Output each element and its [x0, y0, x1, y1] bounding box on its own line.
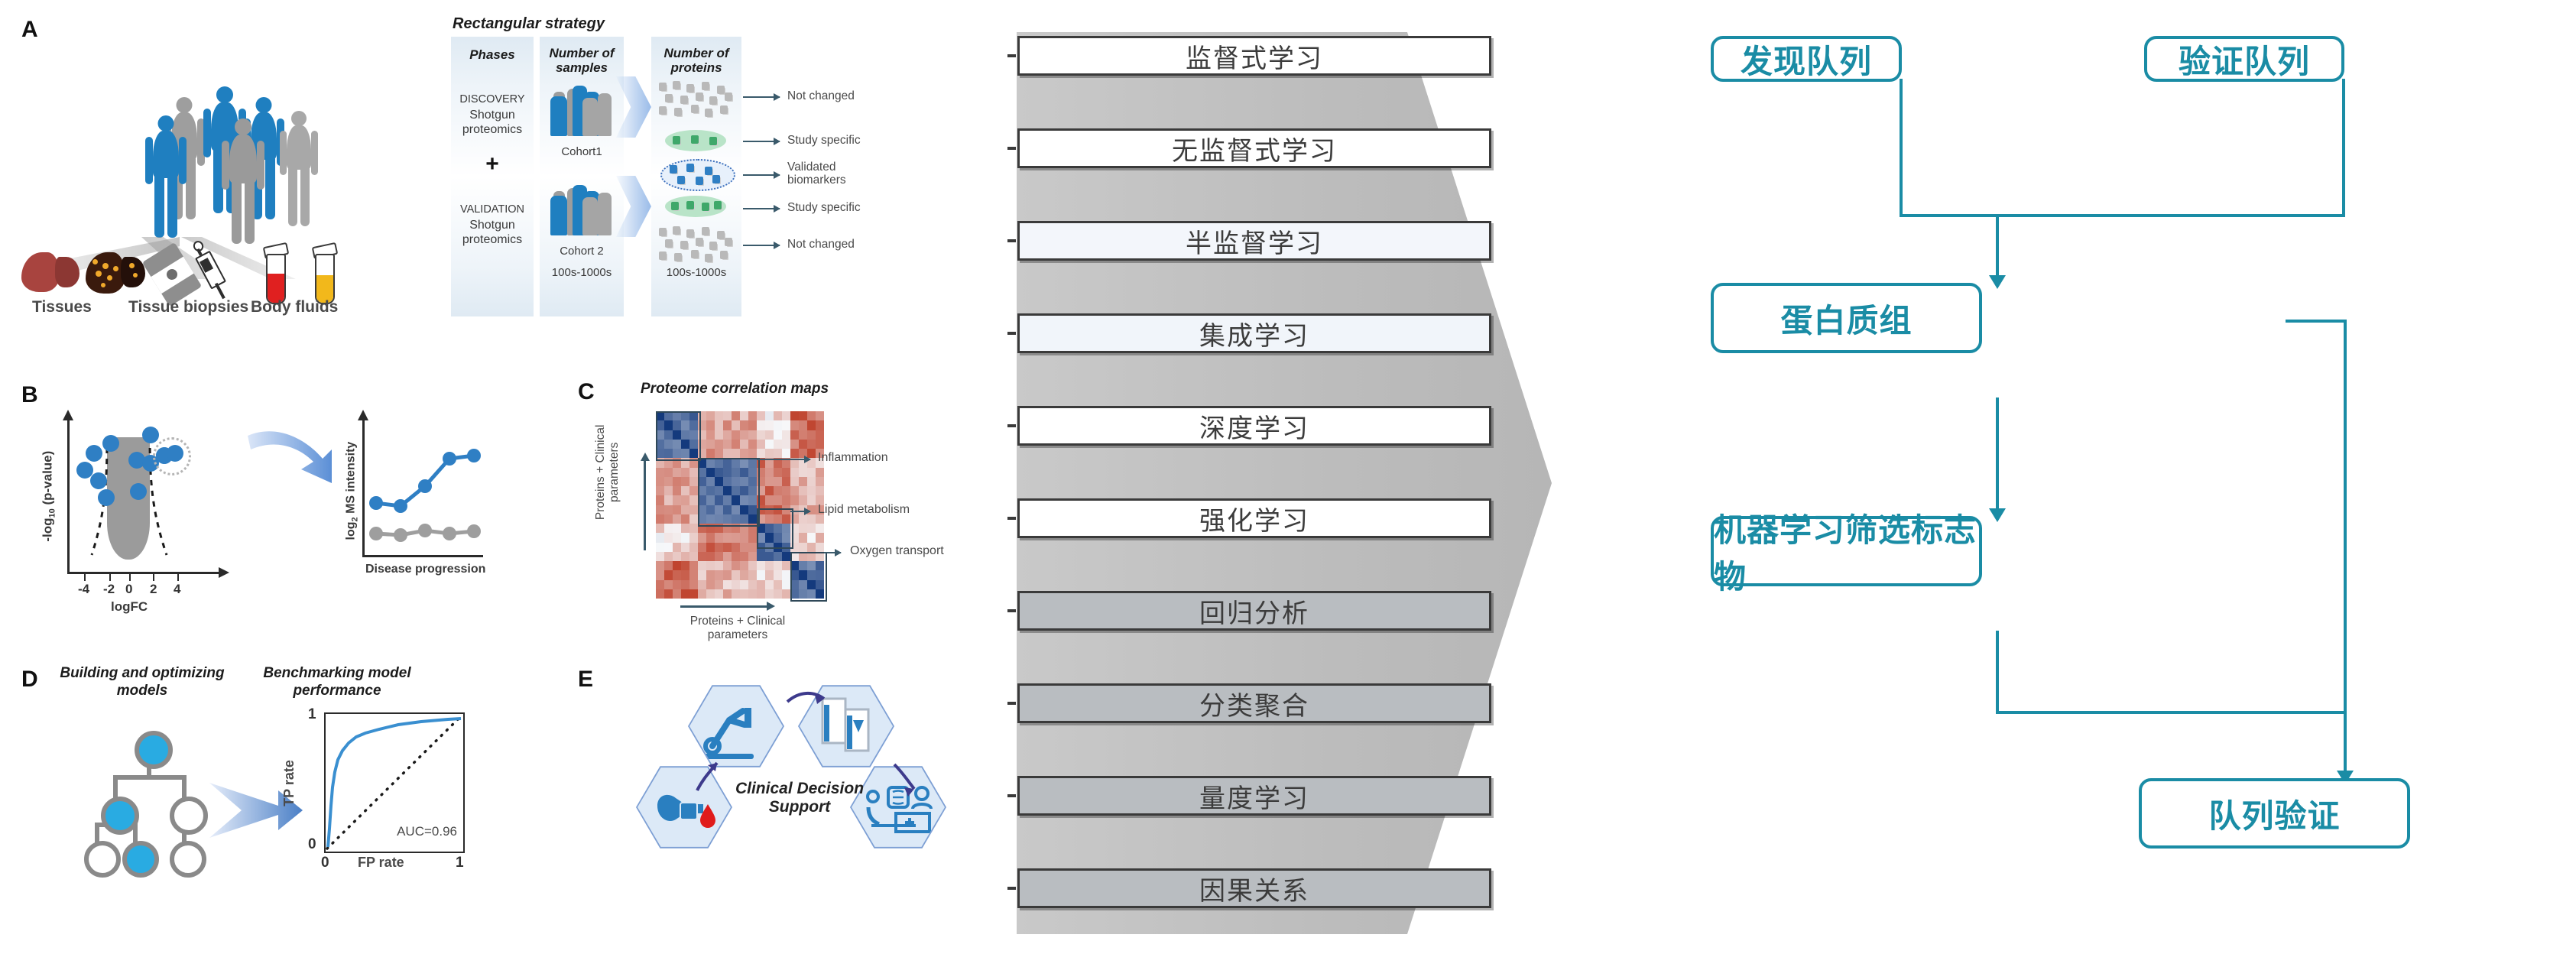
- rect-col-phases: Phases DISCOVERY Shotgun proteomics + VA…: [451, 37, 534, 316]
- outcome-arrow-3: [743, 174, 780, 176]
- cluster-box-inflammation: [698, 458, 760, 527]
- cds-label: Clinical Decision Support: [715, 780, 884, 816]
- volcano-to-trend-arrow: [243, 419, 350, 503]
- ml-tick-9: [1007, 794, 1016, 797]
- roc-ytick-bottom: 0: [308, 836, 316, 853]
- ml-method-label-2: 无监督式学习: [1172, 130, 1337, 167]
- outcome-arrow-4: [743, 208, 780, 209]
- panel-a-label-bodyfluids: Body fluids: [251, 298, 338, 316]
- fc-node-discovery-cohort[interactable]: 发现队列: [1711, 36, 1902, 82]
- fc-line-to-proteome: [1996, 214, 1999, 283]
- validation-title: VALIDATION: [451, 203, 534, 216]
- discovery-sub2: proteomics: [451, 123, 534, 138]
- fc-node-ml-biomarker-selection[interactable]: 机器学习筛选标志物: [1711, 516, 1982, 586]
- ml-tick-3: [1007, 239, 1016, 242]
- panel-c-xlabel-line1: Proteins + Clinical: [650, 615, 826, 628]
- cluster-box-1: [656, 411, 701, 461]
- samples-scale: 100s-1000s: [540, 266, 624, 279]
- protein-cluster-study-specific-1: [665, 130, 726, 151]
- rect-col-samples-head-line1: Number of: [540, 46, 624, 60]
- panel-c-ylabel-line2: parameters: [608, 400, 621, 545]
- fc-label-proteome: 蛋白质组: [1780, 295, 1912, 342]
- rect-col-proteins-head: Number of proteins: [651, 46, 741, 75]
- outcome-arrow-2: [743, 141, 780, 142]
- outcome-label-studyspecific-1: Study specific: [787, 134, 861, 147]
- outcome-label-validated-line2: biomarkers: [787, 174, 846, 187]
- outcome-label-studyspecific-2: Study specific: [787, 201, 861, 214]
- cds-label-line1: Clinical Decision: [715, 780, 884, 798]
- panel-c-label-oxygen: Oxygen transport: [850, 544, 944, 558]
- tree-node-right: [170, 797, 208, 835]
- protein-cluster-notchanged-bottom: [657, 226, 737, 263]
- ml-method-box-3[interactable]: 半监督学习: [1017, 221, 1491, 261]
- panel-c-label-inflammation: Inflammation: [818, 451, 888, 465]
- panel-d-roc-title-line2: performance: [242, 683, 433, 700]
- ml-method-box-7[interactable]: 回归分析: [1017, 591, 1491, 631]
- ml-method-label-6: 强化学习: [1199, 500, 1309, 537]
- rect-col-phases-head: Phases: [451, 47, 534, 62]
- trend-ylabel-sub: 2: [351, 517, 360, 521]
- rect-col-samples-head-line2: samples: [540, 60, 624, 75]
- ml-method-label-8: 分类聚合: [1199, 685, 1309, 722]
- rect-col-proteins-head-line1: Number of: [651, 46, 741, 60]
- volcano-plot: -4 -2 0 2 4 logFC -log10 (p-value): [46, 413, 275, 604]
- volcano-xlabel: logFC: [111, 599, 148, 615]
- cohort2-label: Cohort 2: [540, 245, 624, 258]
- fc-line-validation-down: [2342, 79, 2345, 216]
- cds-cycle-arrows: [627, 673, 963, 856]
- panel-letter-a: A: [21, 17, 38, 43]
- fc-label-ml-biomarker-selection: 机器学习筛选标志物: [1714, 505, 1979, 598]
- panel-c-ylabel-line1: Proteins + Clinical: [594, 400, 608, 545]
- outcome-label-notchanged-1: Not changed: [787, 89, 855, 102]
- discovery-sub1: Shotgun: [451, 109, 534, 123]
- cohort1-people: [549, 84, 616, 141]
- rect-col-samples-head: Number of samples: [540, 46, 624, 75]
- roc-ytick-top: 1: [308, 706, 316, 723]
- volcano-xtick-2: 2: [150, 582, 157, 597]
- panel-c-arrow-inflammation: [757, 459, 810, 460]
- rect-col-proteins: Number of proteins: [651, 37, 741, 316]
- panel-d-roc-title: Benchmarking model performance: [242, 665, 433, 700]
- urine-tube-icon: [312, 245, 335, 303]
- volcano-xtick--4: -4: [78, 582, 89, 597]
- ml-method-label-9: 量度学习: [1199, 777, 1309, 815]
- cluster-box-oxygen: [790, 552, 827, 602]
- roc-auc-label: AUC=0.96: [397, 824, 457, 839]
- person-gray: [280, 111, 318, 233]
- fc-line-discovery-down: [1900, 79, 1903, 216]
- roc-xtick-right: 1: [456, 855, 464, 871]
- panel-c-xlabel-line2: parameters: [650, 628, 826, 642]
- rect-col-samples: Number of samples Cohort1 Cohort 2 100s-…: [540, 37, 624, 316]
- panel-c-xlabel: Proteins + Clinical parameters: [650, 615, 826, 642]
- panel-d-title-line2: models: [50, 683, 234, 700]
- ml-method-box-10[interactable]: 因果关系: [1017, 868, 1491, 908]
- ml-tick-10: [1007, 887, 1016, 890]
- ml-method-box-9[interactable]: 量度学习: [1017, 776, 1491, 816]
- fc-arrowhead-proteome: [1989, 275, 2006, 289]
- panel-letter-c: C: [578, 379, 595, 405]
- ml-method-box-2[interactable]: 无监督式学习: [1017, 128, 1491, 168]
- roc-xlabel: FP rate: [358, 855, 404, 871]
- panel-c-label-lipid: Lipid metabolism: [818, 503, 910, 517]
- ml-tick-1: [1007, 54, 1016, 57]
- fc-line-proteome-to-ml: [1996, 398, 1999, 516]
- cds-label-line2: Support: [715, 798, 884, 816]
- panel-c-title: Proteome correlation maps: [641, 381, 829, 398]
- roc-plot: AUC=0.96: [324, 712, 465, 853]
- panel-letter-e: E: [578, 667, 593, 693]
- cohort2-people: [549, 183, 616, 241]
- rect-strategy-title: Rectangular strategy: [453, 15, 605, 33]
- tree-node-left: [101, 797, 139, 835]
- tree-leaf-3: [170, 841, 206, 878]
- fc-node-proteome[interactable]: 蛋白质组: [1711, 283, 1982, 353]
- trend-ylabel: log2 MS intensity: [344, 442, 359, 540]
- protein-cluster-study-specific-2: [665, 196, 726, 217]
- ml-method-box-5[interactable]: 深度学习: [1017, 406, 1491, 446]
- trend-ylabel-main: log: [344, 522, 357, 540]
- ml-tick-2: [1007, 147, 1016, 150]
- ml-method-label-1: 监督式学习: [1186, 37, 1323, 75]
- volcano-ylabel-main: -log: [40, 518, 54, 542]
- panel-c-arrow-lipid: [790, 511, 810, 512]
- liver-red-icon: [21, 252, 79, 292]
- outcome-label-validated-line1: Validated: [787, 161, 846, 174]
- fc-line-ml-down: [1996, 631, 1999, 713]
- ml-tick-5: [1007, 424, 1016, 427]
- roc-xtick-left: 0: [321, 855, 329, 871]
- phases-plus: +: [451, 151, 534, 177]
- volcano-ylabel: -log10 (p-value): [40, 451, 57, 542]
- outcome-label-validated: Validated biomarkers: [787, 161, 846, 187]
- panel-c-yaxis-arrowhead: [641, 453, 650, 461]
- ml-method-box-6[interactable]: 强化学习: [1017, 498, 1491, 538]
- blood-tube-icon: [263, 245, 286, 303]
- panel-c-ylabel: Proteins + Clinical parameters: [594, 400, 621, 545]
- volcano-xtick-4: 4: [174, 582, 180, 597]
- fc-line-proteome-branch-v: [2344, 320, 2347, 778]
- validation-sub1: Shotgun: [451, 219, 534, 233]
- fc-label-cohort-validation: 队列验证: [2208, 790, 2340, 837]
- liver-steatosis-icon: [86, 252, 145, 294]
- discovery-title: DISCOVERY: [451, 93, 534, 106]
- fc-label-discovery-cohort: 发现队列: [1741, 36, 1872, 83]
- volcano-ylabel-sub: 10: [48, 508, 57, 518]
- ml-tick-4: [1007, 332, 1016, 335]
- cohort1-label: Cohort1: [540, 145, 624, 158]
- ml-tick-7: [1007, 609, 1016, 612]
- outcome-arrow-1: [743, 96, 780, 98]
- trend-ylabel-tail: MS intensity: [344, 442, 357, 518]
- highlighted-protein-circle: [153, 437, 191, 475]
- tree-leaf-2: [122, 841, 159, 878]
- panel-c-arrow-oxygen: [824, 552, 841, 553]
- ml-method-box-1[interactable]: 监督式学习: [1017, 36, 1491, 76]
- panel-c-yaxis-arrow: [644, 459, 646, 550]
- panel-letter-b: B: [21, 382, 38, 408]
- tree-node-root: [135, 731, 173, 769]
- figure-canvas: A: [0, 0, 2576, 967]
- fc-node-cohort-validation[interactable]: 队列验证: [2139, 778, 2410, 849]
- protein-cluster-notchanged-top: [657, 81, 737, 118]
- protein-cluster-validated-biomarkers: [660, 159, 735, 191]
- fc-line-proteome-branch-h: [2286, 320, 2347, 323]
- ml-method-label-5: 深度学习: [1199, 407, 1309, 445]
- ml-tick-8: [1007, 702, 1016, 705]
- protein-trend-plot: Disease progression log2 MS intensity: [346, 413, 491, 604]
- fc-node-validation-cohort[interactable]: 验证队列: [2144, 36, 2344, 82]
- panel-a-label-biopsies: Tissue biopsies: [128, 298, 248, 316]
- trend-xlabel: Disease progression: [365, 563, 485, 576]
- proteins-scale: 100s-1000s: [651, 266, 741, 279]
- ml-method-box-4[interactable]: 集成学习: [1017, 313, 1491, 353]
- fc-arrowhead-ml: [1989, 508, 2006, 522]
- fc-line-ml-right: [1996, 711, 2347, 714]
- volcano-xtick-0: 0: [125, 582, 132, 597]
- fc-label-validation-cohort: 验证队列: [2179, 36, 2310, 83]
- ml-method-box-8[interactable]: 分类聚合: [1017, 683, 1491, 723]
- rect-col-proteins-head-line2: proteins: [651, 60, 741, 75]
- panel-d-title-line1: Building and optimizing: [50, 665, 234, 683]
- panel-a-label-tissues: Tissues: [32, 298, 92, 316]
- panel-d-roc-title-line1: Benchmarking model: [242, 665, 433, 683]
- validation-sub2: proteomics: [451, 233, 534, 248]
- volcano-ylabel-tail: (p-value): [40, 451, 54, 509]
- panel-c-xaxis-arrowhead: [767, 602, 775, 611]
- ml-method-label-3: 半监督学习: [1186, 222, 1323, 260]
- outcome-arrow-5: [743, 245, 780, 246]
- outcome-label-notchanged-2: Not changed: [787, 238, 855, 251]
- ml-tick-6: [1007, 517, 1016, 520]
- roc-ylabel: TP rate: [281, 760, 297, 806]
- volcano-xtick--2: -2: [103, 582, 115, 597]
- tree-leaf-1: [84, 841, 121, 878]
- ml-method-label-7: 回归分析: [1199, 592, 1309, 630]
- fc-line-join-horizontal: [1900, 214, 2345, 217]
- panel-d-title: Building and optimizing models: [50, 665, 234, 700]
- ml-method-label-10: 因果关系: [1199, 870, 1309, 907]
- panel-c-xaxis-arrow: [680, 605, 768, 608]
- cluster-box-lipid: [757, 508, 793, 549]
- ml-method-label-4: 集成学习: [1199, 315, 1309, 352]
- panel-letter-d: D: [21, 667, 38, 693]
